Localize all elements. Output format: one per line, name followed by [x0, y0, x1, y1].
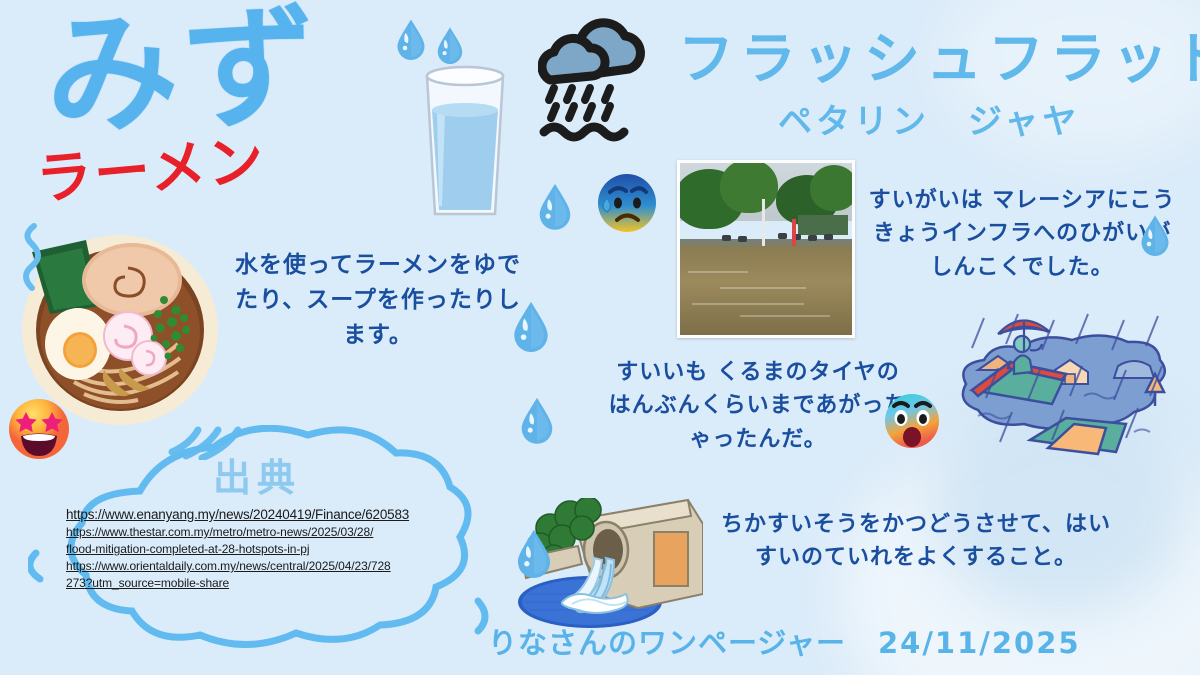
source-link-3[interactable]: https://www.orientaldaily.com.my/news/ce… [66, 558, 478, 575]
water-droplet-icon [538, 182, 572, 230]
sources-cloud: 出典 https://www.enanyang.my/news/20240419… [28, 425, 508, 657]
flood-rooftop-scene-icon [948, 312, 1193, 462]
page-title-mizu: みず [44, 1, 324, 143]
text-infrastructure-damage: すいがいは マレーシアにこうきょうインフラへのひがいが しんこくでした。 [866, 184, 1178, 284]
source-link-1[interactable]: https://www.enanyang.my/news/20240419/Fi… [66, 505, 478, 524]
anxious-sweat-face-emoji [597, 172, 657, 234]
rain-cloud-flood-icon [538, 18, 668, 150]
star-struck-emoji [8, 398, 70, 460]
footer-author: りなさんのワンページャー [488, 626, 846, 660]
page-title-ramen: ラーメン [34, 133, 268, 209]
footer-date: 24/11/2025 [878, 626, 1081, 660]
steam-icon [14, 222, 54, 292]
text-ramen-water-usage: 水を使ってラーメンをゆでたり、スープを作ったりします。 [228, 248, 528, 353]
shocked-face-emoji [884, 392, 940, 450]
text-water-level-tyre: すいいも くるまのタイヤのはんぶんくらいまであがっちゃったんだ。 [608, 356, 908, 456]
sources-link-list: https://www.enanyang.my/news/20240419/Fi… [66, 505, 478, 592]
drainage-culvert-icon [478, 498, 703, 630]
source-link-2[interactable]: https://www.thestar.com.my/metro/metro-n… [66, 524, 478, 541]
water-droplet-icon [520, 396, 554, 444]
water-glass-icon [415, 62, 515, 222]
source-link-2-cont[interactable]: flood-mitigation-completed-at-28-hotspot… [66, 541, 478, 558]
heading-flash-flood: フラッシュフラッド [678, 32, 1200, 88]
footer-signature: りなさんのワンページャー24/11/2025 [488, 620, 1081, 662]
flooded-street-photo [677, 160, 855, 338]
heading-location: ペタリン ジャヤ [778, 105, 1080, 139]
water-droplet-icon [436, 26, 464, 64]
source-link-3-cont[interactable]: 273?utm_source=mobile-share [66, 575, 478, 592]
poster-canvas: みず ラーメン フラッシュフラッド ペタリン ジャヤ [0, 0, 1200, 675]
sources-heading: 出典 [213, 447, 301, 502]
text-drainage-maintenance: ちかすいそうをかつどうさせて、はいすいのていれをよくすること。 [716, 508, 1116, 575]
water-droplet-icon [396, 18, 426, 60]
